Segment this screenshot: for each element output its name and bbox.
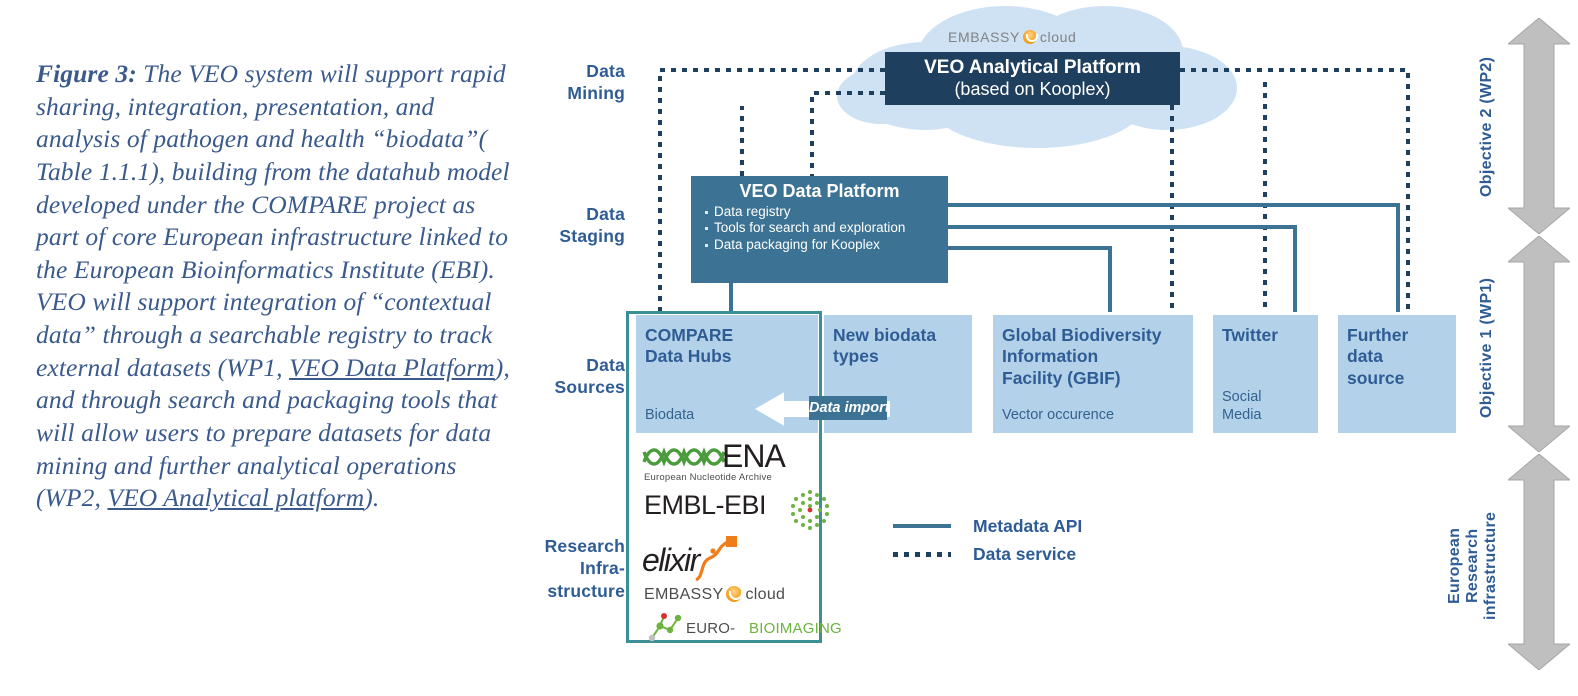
legend-item-metadata-api: Metadata API (893, 512, 1153, 540)
source-subtitle: Social Media (1222, 389, 1262, 424)
ena-logo-wordmark: ENA (722, 440, 785, 472)
embl-ebi-logo-hexagon-icon (789, 488, 831, 537)
euro-bioimaging-logo-word2: BIOIMAGING (749, 620, 842, 637)
source-box-gbif[interactable]: Global Biodiversity Information Facility… (993, 315, 1193, 433)
source-box-further-data-source[interactable]: Further data source (1338, 315, 1456, 433)
elixir-logo: elixir (636, 532, 812, 584)
infra-label-line-3: infrastructure (1482, 466, 1500, 666)
legend-label: Data service (973, 544, 1076, 565)
embassy-cloud-glyph-icon (726, 586, 742, 602)
embassy-cloud-logo-word2: cloud (745, 586, 785, 603)
veo-data-platform-title: VEO Data Platform (691, 181, 948, 204)
objective-2-arrow (1508, 18, 1570, 234)
ena-logo: ENA European Nucleotide Archive (636, 442, 812, 490)
veo-data-platform-bullet: Data packaging for Kooplex (705, 237, 942, 253)
objective-1-arrow (1508, 236, 1570, 452)
embl-ebi-logo-wordmark: EMBL-EBI (644, 492, 766, 519)
source-box-twitter[interactable]: Twitter Social Media (1213, 315, 1318, 433)
research-infrastructure-logos: ENA European Nucleotide Archive EMBL-EBI (636, 442, 812, 648)
european-research-infrastructure-label: European Research infrastructure (1446, 466, 1500, 666)
source-title: Global Biodiversity Information Facility… (1002, 325, 1184, 389)
wire-metadata-twitter (948, 227, 1295, 312)
veo-data-platform-bullet: Tools for search and exploration (705, 220, 942, 236)
source-title: Further data source (1347, 325, 1447, 389)
infra-label-line-2: Research (1464, 466, 1482, 666)
source-title: New biodata types (833, 325, 963, 368)
legend-item-data-service: Data service (893, 540, 1153, 568)
embassy-cloud-logo-wordmark: EMBASSYcloud (644, 586, 785, 604)
objective-1-label: Objective 1 (WP1) (1478, 240, 1496, 455)
euro-bioimaging-logo-word1: EURO- (686, 620, 735, 637)
infra-label-line-1: European (1446, 466, 1464, 666)
source-subtitle: Biodata (645, 407, 694, 424)
data-import-arrow: Data import (755, 392, 891, 426)
veo-data-platform-bullets: Data registry Tools for search and explo… (691, 204, 948, 253)
embl-ebi-logo: EMBL-EBI (636, 490, 812, 532)
veo-analytical-platform-box[interactable]: VEO Analytical Platform (based on Koople… (885, 52, 1180, 105)
european-research-infrastructure-arrow (1508, 454, 1570, 670)
veo-analytical-platform-subtitle: (based on Kooplex) (885, 79, 1180, 101)
objective-2-label: Objective 2 (WP2) (1478, 22, 1496, 232)
legend-swatch-dotted-line (893, 552, 951, 557)
euro-bioimaging-logo-icon (644, 612, 686, 644)
veo-data-platform-bullet: Data registry (705, 204, 942, 220)
elixir-logo-icon (690, 532, 750, 584)
ena-logo-subtitle: European Nucleotide Archive (644, 472, 772, 483)
legend: Metadata API Data service (893, 512, 1153, 568)
veo-data-platform-box[interactable]: VEO Data Platform Data registry Tools fo… (691, 176, 948, 283)
wire-data-service-data-platform (812, 93, 885, 176)
wire-metadata-gbif (948, 248, 1110, 312)
embassy-cloud-logo-word1: EMBASSY (644, 586, 723, 603)
source-title: COMPARE Data Hubs (645, 325, 809, 368)
euro-bioimaging-logo: EURO- BIOIMAGING (636, 612, 812, 648)
source-subtitle: Vector occurence (1002, 407, 1114, 424)
veo-analytical-platform-title: VEO Analytical Platform (885, 56, 1180, 79)
legend-label: Metadata API (973, 516, 1082, 537)
data-import-label: Data import (809, 396, 887, 420)
embassy-cloud-logo: EMBASSYcloud (636, 584, 812, 612)
source-title: Twitter (1222, 325, 1309, 346)
legend-swatch-solid-line (893, 524, 951, 528)
